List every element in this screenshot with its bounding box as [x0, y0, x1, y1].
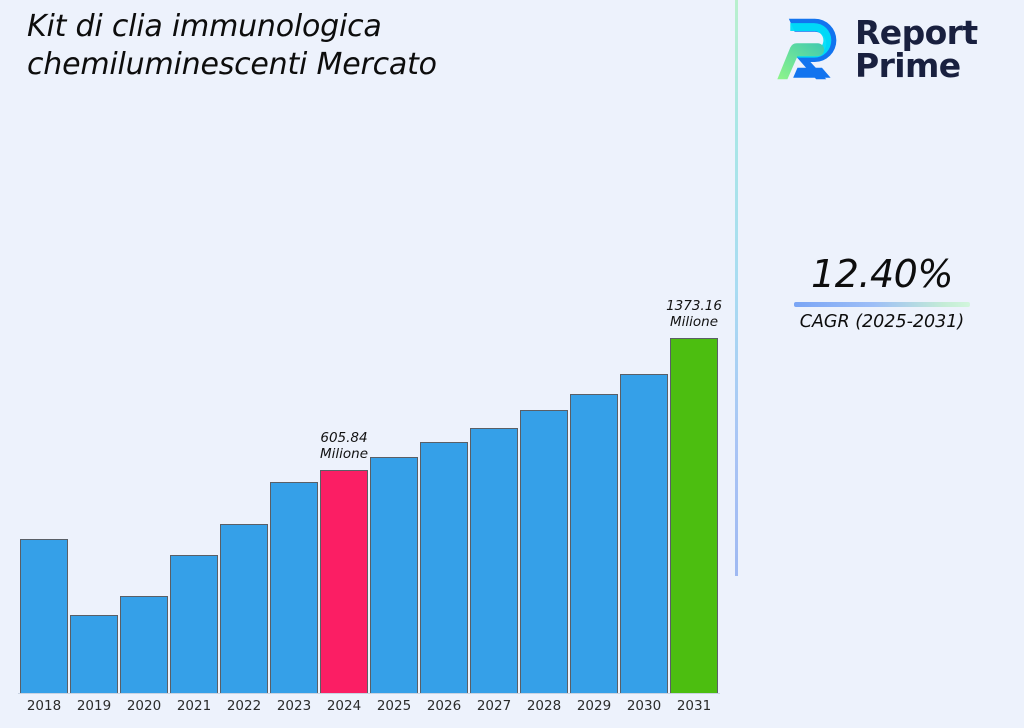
bar-2019: [70, 615, 118, 693]
x-tick-2030: 2030: [619, 698, 669, 714]
x-tick-2026: 2026: [419, 698, 469, 714]
x-tick-2025: 2025: [369, 698, 419, 714]
x-tick-2019: 2019: [69, 698, 119, 714]
x-tick-2018: 2018: [19, 698, 69, 714]
bar-2030: [620, 374, 668, 693]
bar-2023: [270, 482, 318, 693]
x-tick-2022: 2022: [219, 698, 269, 714]
cagr-block: 12.40% CAGR (2025-2031): [756, 252, 1008, 333]
bar-2024: [320, 470, 368, 693]
plot-area: 605.84 Milione1373.16 Milione 2018201920…: [0, 160, 736, 533]
x-tick-2028: 2028: [519, 698, 569, 714]
page-title: Kit di clia immunologica chemiluminescen…: [27, 8, 647, 84]
x-tick-2024: 2024: [319, 698, 369, 714]
brand-name-line2: Prime: [855, 49, 978, 82]
bar-2020: [120, 596, 168, 693]
bar-2031: [670, 338, 718, 693]
brand-logo: Report Prime: [773, 10, 1013, 88]
brand-name-line1: Report: [855, 16, 978, 49]
summary-panel: Report Prime 12.40% CAGR (2025-2031): [738, 0, 1024, 576]
bar-2027: [470, 428, 518, 693]
cagr-divider-rule: [794, 302, 970, 307]
bar-2029: [570, 394, 618, 693]
x-tick-2023: 2023: [269, 698, 319, 714]
bar-2028: [520, 410, 568, 693]
bar-value-label-2031: 1373.16 Milione: [646, 298, 742, 330]
x-axis-line: [18, 693, 720, 694]
x-tick-2020: 2020: [119, 698, 169, 714]
bar-2025: [370, 457, 418, 693]
x-axis-tick-labels: 2018201920202021202220232024202520262027…: [0, 698, 736, 728]
bar-series: 605.84 Milione1373.16 Milione: [0, 160, 736, 693]
x-tick-2027: 2027: [469, 698, 519, 714]
x-tick-2021: 2021: [169, 698, 219, 714]
chart-panel: Kit di clia immunologica chemiluminescen…: [0, 0, 736, 576]
x-tick-2029: 2029: [569, 698, 619, 714]
bar-2026: [420, 442, 468, 693]
cagr-caption: CAGR (2025-2031): [756, 311, 1008, 333]
bar-2018: [20, 539, 68, 693]
cagr-value: 12.40%: [756, 252, 1008, 296]
report-prime-logo-icon: [773, 13, 845, 85]
x-tick-2031: 2031: [669, 698, 719, 714]
chart-screenshot: Kit di clia immunologica chemiluminescen…: [0, 0, 1024, 576]
bar-2022: [220, 524, 268, 693]
brand-name: Report Prime: [855, 16, 978, 82]
